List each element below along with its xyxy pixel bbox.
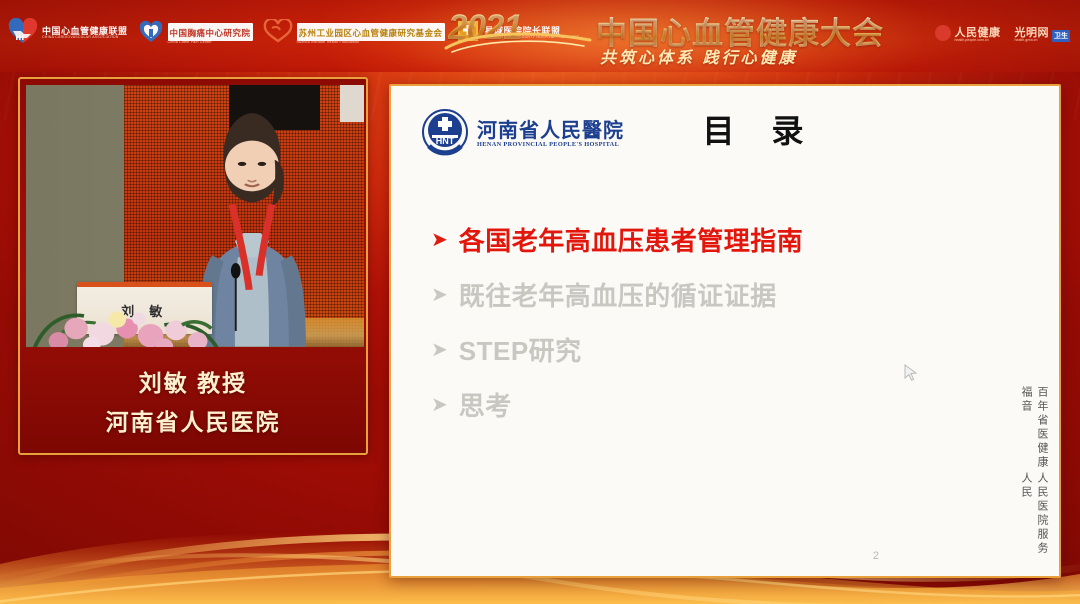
chevron-bullet-icon: ➤: [431, 395, 448, 415]
conference-title-block: 2021 中国心血管健康大会 共筑心体系 践行心健康: [448, 6, 872, 68]
speaker-name: 刘敏 教授: [139, 364, 247, 398]
toc-item-1[interactable]: ➤ 既往老年高血压的循证证据: [431, 267, 1029, 322]
toc-item-label: 各国老年高血压患者管理指南: [459, 221, 804, 258]
toc-item-3[interactable]: ➤ 思考: [431, 377, 1029, 432]
slide-header: HNT 河南省人民醫院 HENAN PROVINCIAL PEOPLE'S HO…: [391, 86, 1059, 172]
sponsor-logo-2: 苏州工业园区心血管健康研究基金会 Suzhou Institute Health…: [263, 19, 445, 48]
sponsor-name-cn: 苏州工业园区心血管健康研究基金会: [299, 28, 443, 38]
microphone-icon: [229, 263, 243, 331]
backdrop-light-panel: [340, 85, 364, 122]
mouse-cursor-icon: [904, 364, 918, 382]
media-logo-0: 人民健康 health.people.com.cn: [934, 24, 1001, 47]
sponsor-name-en: CHINA CARDIOVASCULAR ASSOCIATION: [42, 36, 128, 40]
heart-outline-icon: [263, 19, 293, 48]
media-chip: 卫生: [1052, 30, 1070, 42]
people-health-icon: [934, 24, 952, 47]
toc-item-2[interactable]: ➤ STEP研究: [431, 322, 1029, 377]
conference-stream-screen: 中国心血管健康联盟 CHINA CARDIOVASCULAR ASSOCIATI…: [0, 0, 1080, 604]
speaker-video-panel[interactable]: 刘 敏: [18, 77, 368, 455]
slide-page-number: 2: [873, 550, 879, 562]
sponsor-logo-0: 中国心血管健康联盟 CHINA CARDIOVASCULAR ASSOCIATI…: [8, 18, 128, 49]
sponsor-name-en: Suzhou Institute Health Foundation: [297, 41, 445, 45]
media-name-en: health.gmw.cn: [1015, 39, 1050, 43]
speaker-organization: 河南省人民医院: [106, 403, 281, 437]
slide-title: 目 录: [391, 106, 1059, 152]
slide-content: HNT 河南省人民醫院 HENAN PROVINCIAL PEOPLE'S HO…: [391, 86, 1059, 576]
sponsor-name-en: China Chest Pain Center: [168, 41, 253, 45]
flower-arrangement: [33, 289, 229, 347]
media-name-en: health.people.com.cn: [955, 39, 1001, 43]
heart-handshake-icon: [8, 18, 38, 49]
slide-vertical-note: 人民医院服务人民 百年省医健康福音: [1018, 376, 1050, 556]
gold-swoosh-decoration: [444, 28, 594, 54]
table-of-contents: ➤ 各国老年高血压患者管理指南 ➤ 既往老年高血压的循证证据 ➤ STEP研究 …: [431, 212, 1029, 432]
chevron-bullet-icon: ➤: [431, 340, 448, 360]
video-frame[interactable]: 刘 敏: [26, 85, 364, 347]
heart-institute-icon: [138, 18, 164, 49]
sponsor-name-cn: 中国胸痛中心研究院: [170, 28, 251, 38]
sponsor-logo-1: 中国胸痛中心研究院 China Chest Pain Center: [138, 18, 253, 49]
vertical-note-col-2: 百年省医健康福音: [1018, 386, 1050, 470]
conference-subtitle: 共筑心体系 践行心健康: [600, 44, 797, 68]
toc-item-label: 既往老年高血压的循证证据: [459, 276, 777, 313]
toc-item-label: 思考: [459, 386, 512, 423]
vertical-note-col-1: 人民医院服务人民: [1018, 472, 1050, 556]
toc-item-label: STEP研究: [459, 331, 582, 368]
chevron-bullet-icon: ➤: [431, 230, 448, 250]
speaker-caption: 刘敏 教授 河南省人民医院: [26, 353, 360, 447]
toc-item-0[interactable]: ➤ 各国老年高血压患者管理指南: [431, 212, 1029, 267]
media-logo-1: 光明网 health.gmw.cn 卫生: [1015, 28, 1071, 43]
presentation-slide-panel[interactable]: HNT 河南省人民醫院 HENAN PROVINCIAL PEOPLE'S HO…: [389, 84, 1061, 578]
chevron-bullet-icon: ➤: [431, 285, 448, 305]
media-logo-row: 人民健康 health.people.com.cn 光明网 health.gmw…: [934, 24, 1071, 47]
